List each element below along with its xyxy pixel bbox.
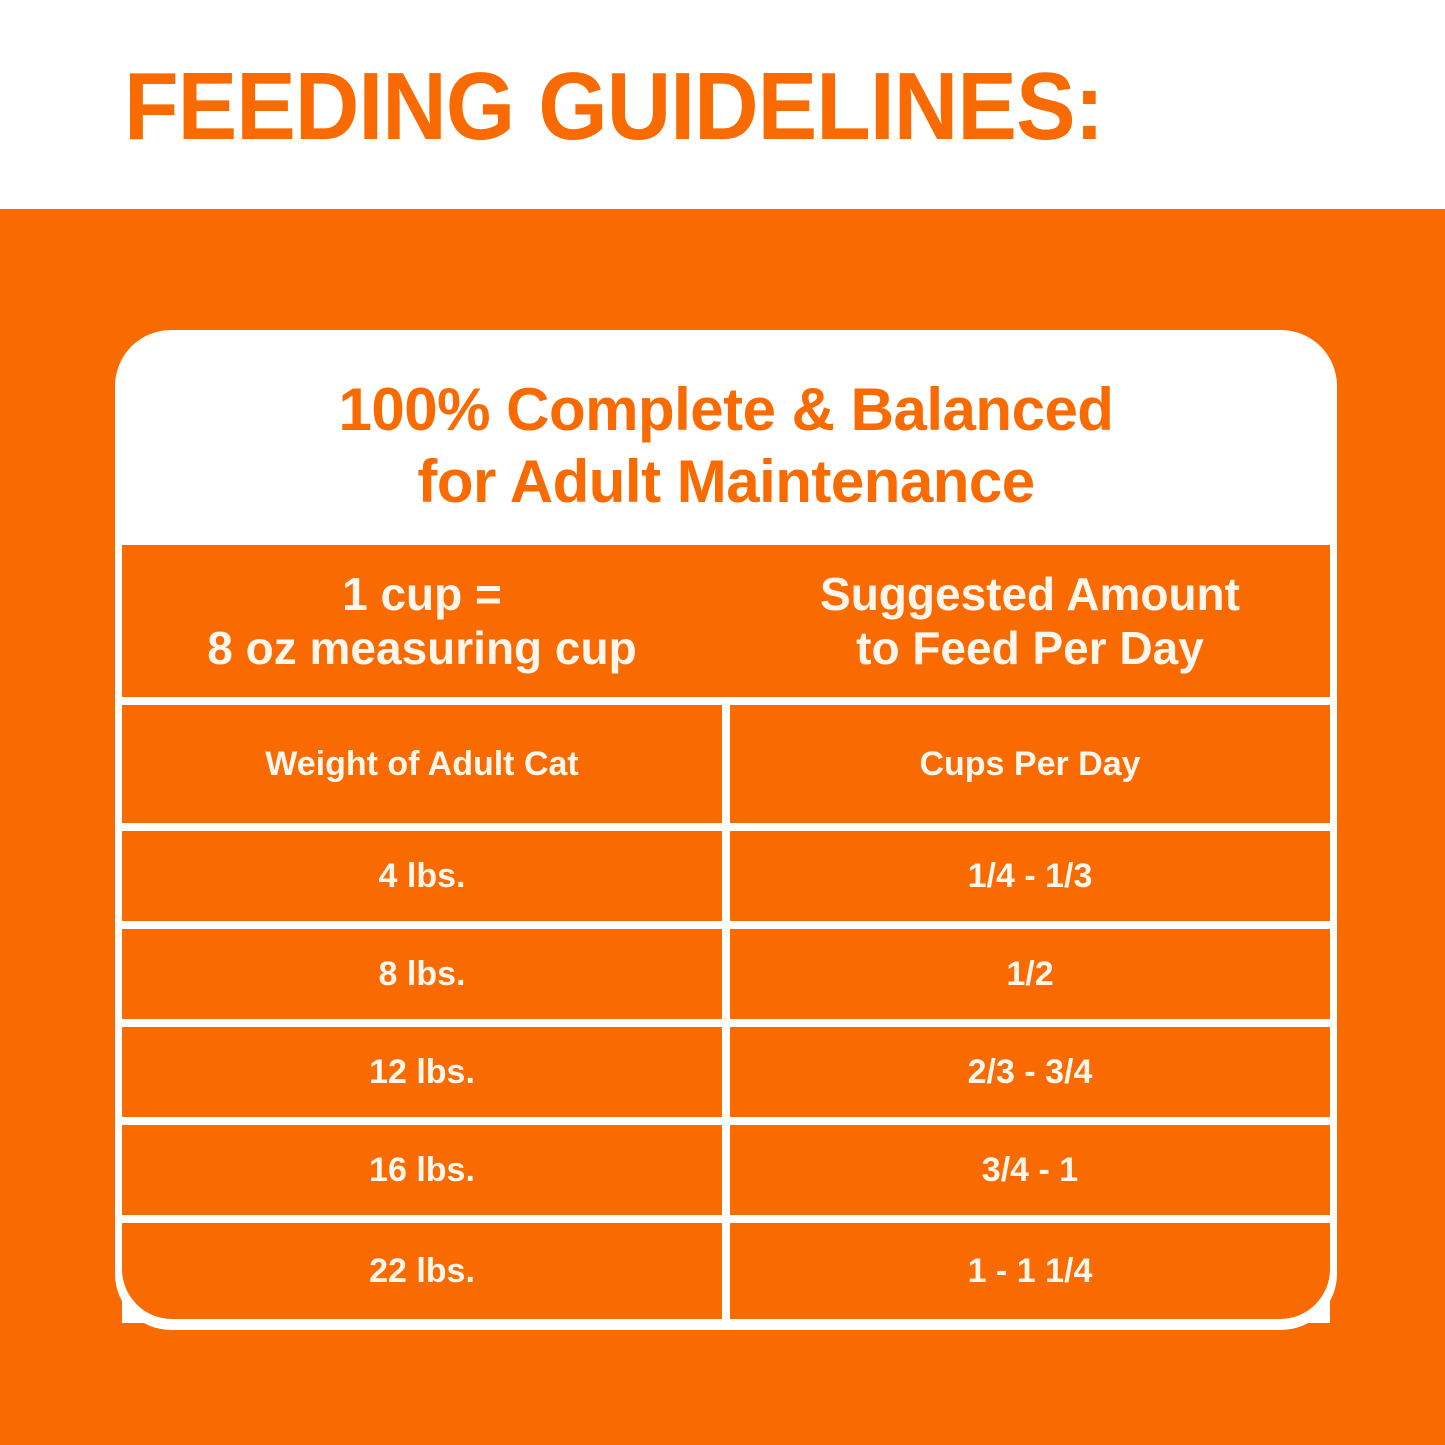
column-divider: [722, 929, 730, 1019]
cell-cups: 1 - 1 1/4: [730, 1223, 1330, 1319]
row-divider: [122, 823, 1330, 831]
cell-weight: 4 lbs.: [122, 831, 722, 921]
cell-cups: 2/3 - 3/4: [730, 1027, 1330, 1117]
header-band: FEEDING GUIDELINES:: [0, 0, 1445, 209]
cell-cups: 1/2: [730, 929, 1330, 1019]
cell-weight: 22 lbs.: [122, 1223, 722, 1319]
card-title: 100% Complete & Balanced for Adult Maint…: [115, 374, 1337, 518]
intro-suggested-line-1: Suggested Amount: [820, 567, 1240, 621]
row-divider: [122, 921, 1330, 929]
guidelines-card: 100% Complete & Balanced for Adult Maint…: [115, 330, 1337, 1330]
feeding-guidelines-panel: FEEDING GUIDELINES: 100% Complete & Bala…: [0, 0, 1445, 1445]
table-intro-row: 1 cup = 8 oz measuring cup Suggested Amo…: [122, 545, 1330, 697]
column-divider: [722, 831, 730, 921]
table-header-row: Weight of Adult Cat Cups Per Day: [122, 705, 1330, 823]
intro-cell-suggested: Suggested Amount to Feed Per Day: [730, 545, 1330, 697]
table-row: 8 lbs. 1/2: [122, 929, 1330, 1019]
cell-weight: 12 lbs.: [122, 1027, 722, 1117]
cell-cups: 1/4 - 1/3: [730, 831, 1330, 921]
intro-suggested-line-2: to Feed Per Day: [820, 621, 1240, 675]
feeding-table: 1 cup = 8 oz measuring cup Suggested Amo…: [122, 545, 1330, 1323]
column-divider: [722, 705, 730, 823]
column-divider: [722, 1027, 730, 1117]
row-divider: [122, 697, 1330, 705]
intro-measure-line-1: 1 cup =: [207, 567, 636, 621]
cell-cups: 3/4 - 1: [730, 1125, 1330, 1215]
column-header-weight: Weight of Adult Cat: [122, 705, 722, 823]
table-row: 4 lbs. 1/4 - 1/3: [122, 831, 1330, 921]
cell-weight: 16 lbs.: [122, 1125, 722, 1215]
column-divider: [722, 1223, 730, 1319]
intro-cell-measure: 1 cup = 8 oz measuring cup: [122, 545, 722, 697]
row-divider: [122, 1117, 1330, 1125]
card-title-line-2: for Adult Maintenance: [115, 446, 1337, 518]
intro-measure-line-2: 8 oz measuring cup: [207, 621, 636, 675]
column-header-cups: Cups Per Day: [730, 705, 1330, 823]
column-divider: [722, 545, 730, 697]
row-divider: [122, 1215, 1330, 1223]
cell-weight: 8 lbs.: [122, 929, 722, 1019]
page-title: FEEDING GUIDELINES:: [124, 57, 1103, 157]
table-row: 16 lbs. 3/4 - 1: [122, 1125, 1330, 1215]
table-row: 12 lbs. 2/3 - 3/4: [122, 1027, 1330, 1117]
row-divider: [122, 1019, 1330, 1027]
card-title-line-1: 100% Complete & Balanced: [115, 374, 1337, 446]
column-divider: [722, 1125, 730, 1215]
table-row: 22 lbs. 1 - 1 1/4: [122, 1223, 1330, 1319]
